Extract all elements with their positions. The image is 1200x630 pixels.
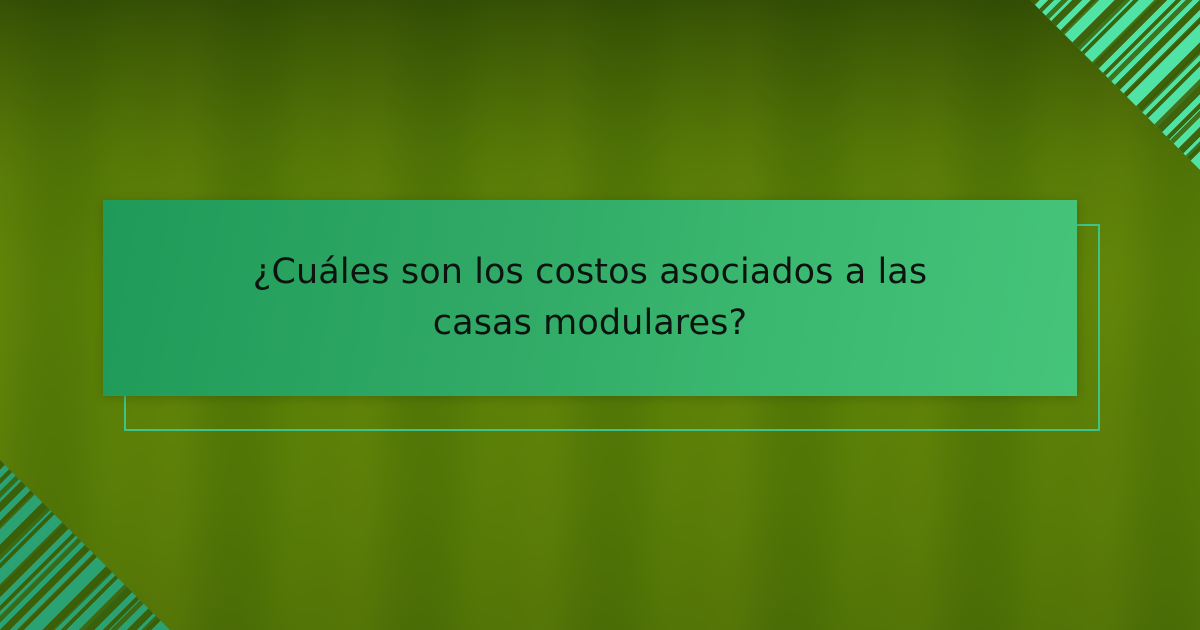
- bottom-left-corner-pattern: [0, 460, 170, 630]
- diagonal-dash-pattern-icon: [1030, 0, 1200, 170]
- diagonal-dash-pattern-icon: [0, 460, 170, 630]
- page-root: ¿Cuáles son los costos asociados a las c…: [0, 0, 1200, 630]
- top-right-corner-pattern: [1030, 0, 1200, 170]
- question-text: ¿Cuáles son los costos asociados a las c…: [210, 247, 970, 349]
- question-card: ¿Cuáles son los costos asociados a las c…: [103, 200, 1077, 396]
